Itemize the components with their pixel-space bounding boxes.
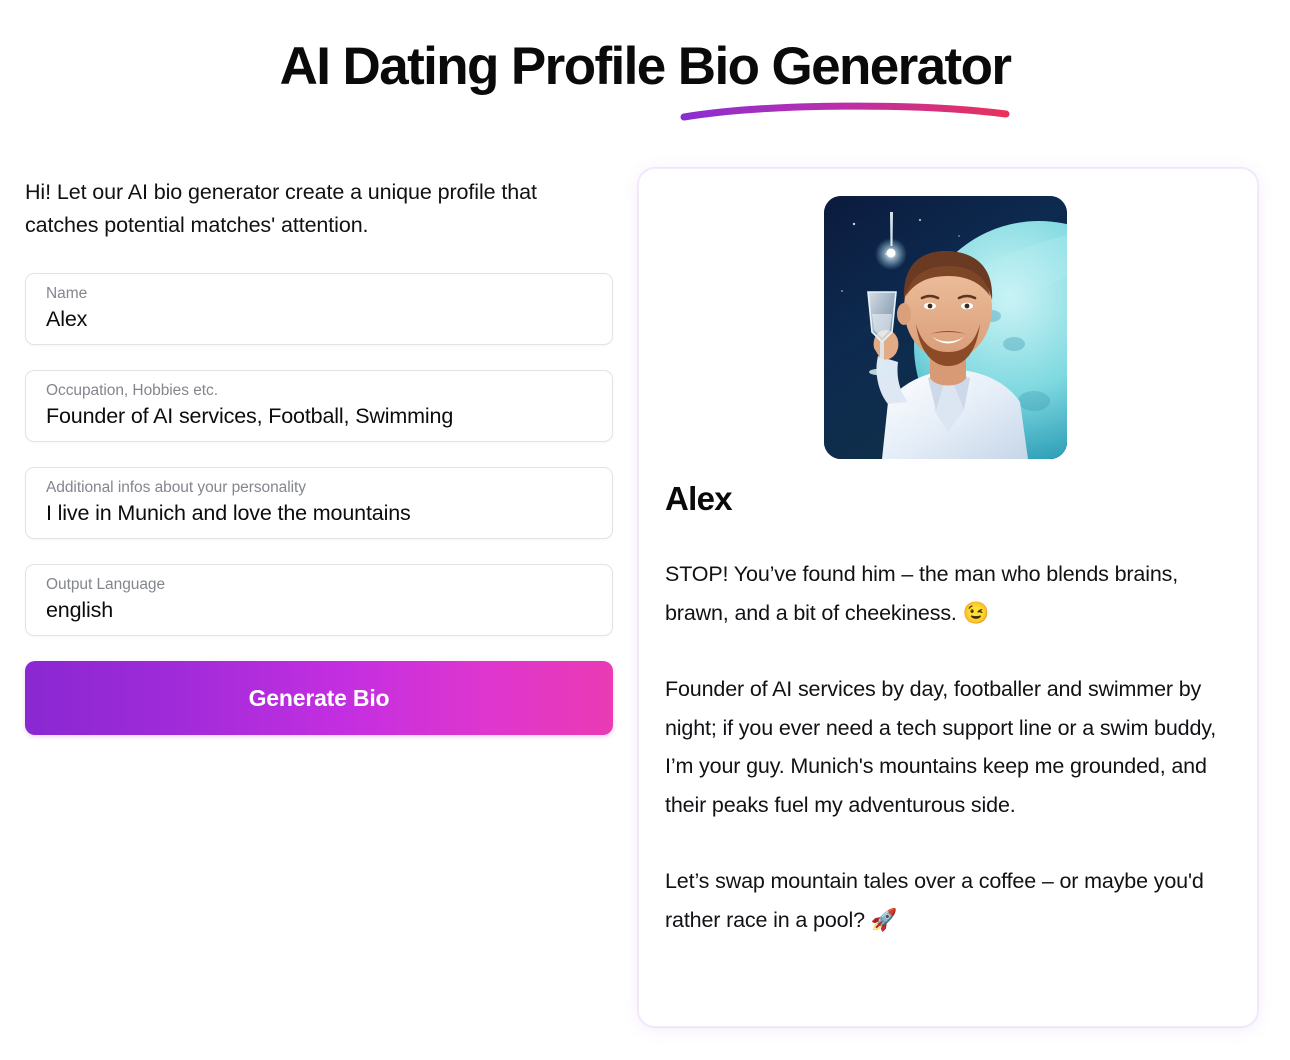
page-title: AI Dating Profile Bio Generator bbox=[280, 36, 1011, 99]
field-output-language-label: Output Language bbox=[46, 575, 592, 595]
field-output-language[interactable]: Output Language english bbox=[25, 564, 613, 636]
field-output-language-input[interactable]: english bbox=[46, 595, 592, 625]
field-occupation[interactable]: Occupation, Hobbies etc. Founder of AI s… bbox=[25, 370, 613, 442]
app-root: AI Dating Profile Bio Generator Hi! Let … bbox=[0, 0, 1290, 1060]
result-name: Alex bbox=[665, 480, 732, 518]
page-header: AI Dating Profile Bio Generator bbox=[0, 36, 1290, 99]
avatar bbox=[824, 196, 1067, 459]
bio-paragraph: Let’s swap mountain tales over a coffee … bbox=[665, 862, 1221, 939]
avatar-illustration-icon bbox=[824, 196, 1067, 459]
field-name-label: Name bbox=[46, 284, 592, 304]
field-occupation-label: Occupation, Hobbies etc. bbox=[46, 381, 592, 401]
page-title-text: AI Dating Profile Bio Generator bbox=[280, 37, 1011, 96]
bio-text: STOP! You’ve found him – the man who ble… bbox=[665, 555, 1221, 939]
generator-form: Hi! Let our AI bio generator create a un… bbox=[25, 176, 613, 735]
field-personality-label: Additional infos about your personality bbox=[46, 478, 592, 498]
generate-bio-button[interactable]: Generate Bio bbox=[25, 661, 613, 735]
bio-paragraph: Founder of AI services by day, footballe… bbox=[665, 670, 1221, 824]
field-name-input[interactable]: Alex bbox=[46, 304, 592, 334]
field-name[interactable]: Name Alex bbox=[25, 273, 613, 345]
field-personality-input[interactable]: I live in Munich and love the mountains bbox=[46, 498, 592, 528]
title-underline-swoosh-icon bbox=[680, 98, 1010, 124]
bio-paragraph: STOP! You’ve found him – the man who ble… bbox=[665, 555, 1221, 632]
result-card: Alex STOP! You’ve found him – the man wh… bbox=[638, 168, 1258, 1027]
intro-text: Hi! Let our AI bio generator create a un… bbox=[25, 176, 613, 242]
field-personality[interactable]: Additional infos about your personality … bbox=[25, 467, 613, 539]
field-occupation-input[interactable]: Founder of AI services, Football, Swimmi… bbox=[46, 401, 592, 431]
